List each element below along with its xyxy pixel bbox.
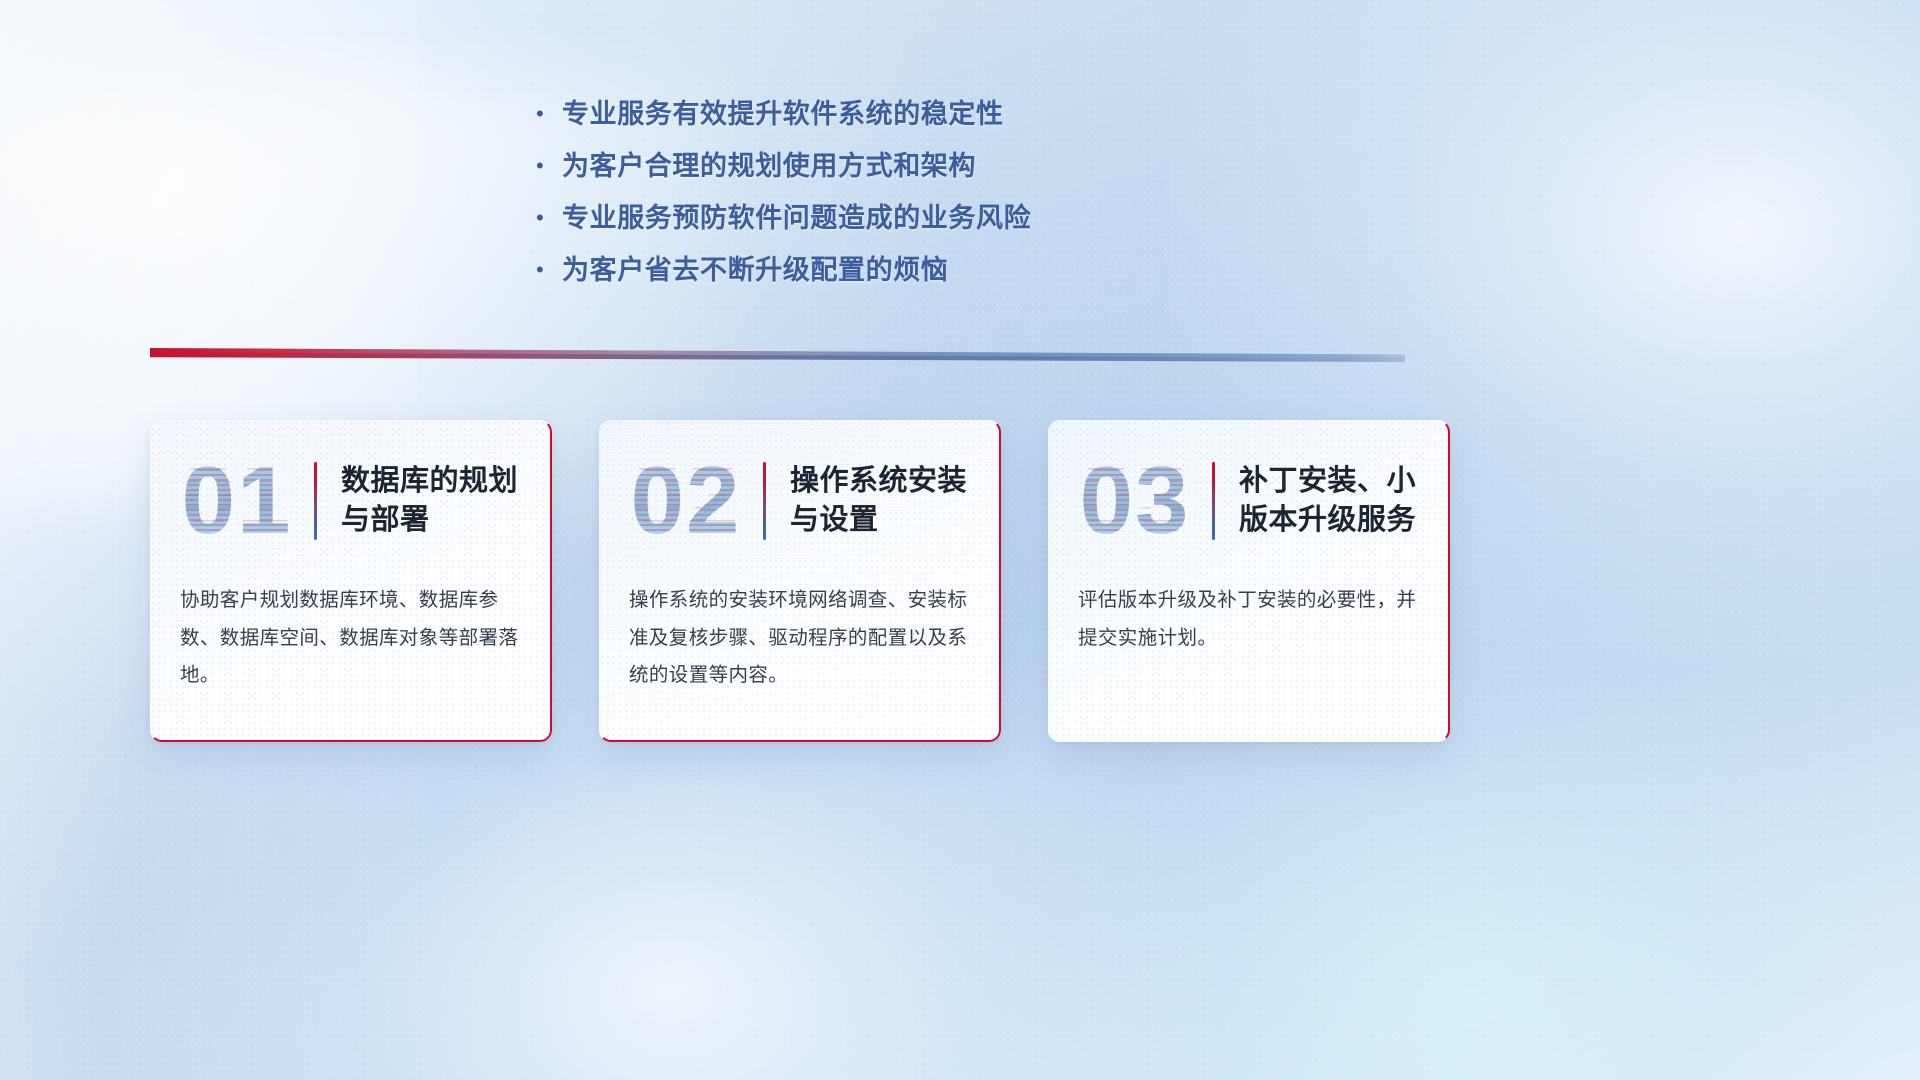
- section-divider: [150, 348, 1405, 362]
- card-body-text: 协助客户规划数据库环境、数据库参数、数据库空间、数据库对象等部署落地。: [150, 560, 552, 695]
- service-card-01[interactable]: 01 数据库的规划与部署 01 协助客户规划数据库环境、数据库参数、数据库空间、…: [150, 420, 552, 742]
- card-header: 01 数据库的规划与部署: [150, 420, 552, 560]
- card-divider-bar: [1212, 462, 1215, 540]
- card-number-watermark: 03: [1072, 449, 1198, 553]
- bullet-marker-icon: •: [536, 259, 562, 281]
- bullet-text: 为客户合理的规划使用方式和架构: [562, 144, 976, 183]
- bullet-marker-icon: •: [536, 207, 562, 229]
- card-divider-bar: [763, 462, 766, 540]
- card-title: 数据库的规划与部署: [341, 462, 528, 539]
- list-item: • 专业服务有效提升软件系统的稳定性: [536, 92, 1176, 144]
- list-item: • 为客户省去不断升级配置的烦恼: [536, 248, 1176, 300]
- card-number-watermark: 02: [623, 449, 749, 553]
- bullet-text: 专业服务预防软件问题造成的业务风险: [562, 196, 1031, 235]
- card-number-watermark: 01: [174, 449, 300, 553]
- bullet-text: 专业服务有效提升软件系统的稳定性: [562, 92, 1004, 131]
- card-body-text: 操作系统的安装环境网络调查、安装标准及复核步骤、驱动程序的配置以及系统的设置等内…: [599, 560, 1001, 695]
- card-divider-bar: [314, 462, 317, 540]
- card-title: 操作系统安装与设置: [790, 462, 977, 539]
- service-card-group: 01 数据库的规划与部署 01 协助客户规划数据库环境、数据库参数、数据库空间、…: [150, 420, 1450, 750]
- bullet-marker-icon: •: [536, 155, 562, 177]
- divider-gradient-bar: [150, 348, 1405, 362]
- bullet-marker-icon: •: [536, 103, 562, 125]
- benefits-bullet-list: • 专业服务有效提升软件系统的稳定性 • 为客户合理的规划使用方式和架构 • 专…: [536, 92, 1176, 300]
- service-card-02[interactable]: 02 操作系统安装与设置 02 操作系统的安装环境网络调查、安装标准及复核步骤、…: [599, 420, 1001, 742]
- list-item: • 专业服务预防软件问题造成的业务风险: [536, 196, 1176, 248]
- slide-root: • 专业服务有效提升软件系统的稳定性 • 为客户合理的规划使用方式和架构 • 专…: [0, 0, 1920, 1080]
- list-item: • 为客户合理的规划使用方式和架构: [536, 144, 1176, 196]
- card-body-text: 评估版本升级及补丁安装的必要性，并提交实施计划。: [1048, 560, 1450, 657]
- service-card-03[interactable]: 03 补丁安装、小版本升级服务 03 评估版本升级及补丁安装的必要性，并提交实施…: [1048, 420, 1450, 742]
- card-title: 补丁安装、小版本升级服务: [1239, 462, 1426, 539]
- bullet-text: 为客户省去不断升级配置的烦恼: [562, 248, 948, 287]
- card-header: 03 补丁安装、小版本升级服务: [1048, 420, 1450, 560]
- card-header: 02 操作系统安装与设置: [599, 420, 1001, 560]
